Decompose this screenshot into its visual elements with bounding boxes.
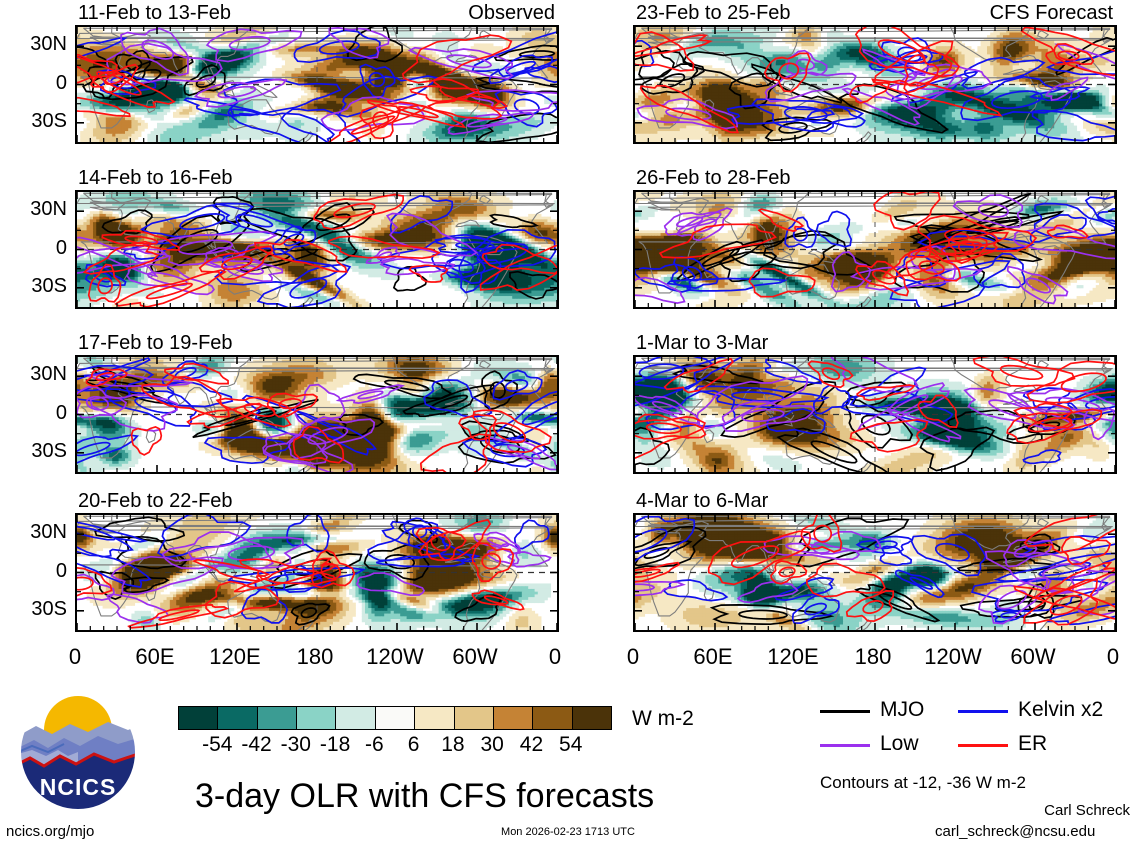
panel-title: 26-Feb to 28-Feb <box>636 168 791 188</box>
panel-title: 17-Feb to 19-Feb <box>78 333 233 353</box>
column-header: Observed <box>295 3 555 23</box>
y-axis-label: 0 <box>3 238 67 258</box>
panel-title: 20-Feb to 22-Feb <box>78 491 233 511</box>
legend-label: Low <box>880 733 919 754</box>
column-header: CFS Forecast <box>853 3 1113 23</box>
y-axis-label: 30S <box>3 111 67 131</box>
legend-line <box>958 710 1008 713</box>
panel-title: 11-Feb to 13-Feb <box>78 3 231 23</box>
y-axis-label: 30N <box>3 522 67 542</box>
contour-note: Contours at -12, -36 W m-2 <box>820 774 1026 791</box>
panel-title: 4-Mar to 6-Mar <box>636 491 768 511</box>
olr-map <box>75 513 559 632</box>
author-credit: Carl Schreck <box>1040 803 1130 818</box>
colorbar <box>178 706 612 730</box>
colorbar-tick-label: 54 <box>531 734 611 755</box>
panel-title: 14-Feb to 16-Feb <box>78 168 233 188</box>
colorbar-segment <box>217 707 256 729</box>
legend-label: Kelvin x2 <box>1018 699 1103 720</box>
y-axis-label: 0 <box>3 73 67 93</box>
colorbar-segment <box>493 707 532 729</box>
legend-label: ER <box>1018 733 1047 754</box>
y-axis-label: 0 <box>3 403 67 423</box>
colorbar-segment <box>414 707 453 729</box>
colorbar-segment <box>257 707 296 729</box>
olr-map <box>633 25 1117 144</box>
contact-email: carl_schreck@ncsu.edu <box>935 824 1095 839</box>
site-url: ncics.org/mjo <box>6 824 94 839</box>
render-timestamp: Mon 2026-02-23 1713 UTC <box>478 827 658 838</box>
colorbar-segment <box>179 707 217 729</box>
y-axis-label: 30N <box>3 199 67 219</box>
colorbar-segment <box>572 707 611 729</box>
main-title: 3-day OLR with CFS forecasts <box>195 779 654 813</box>
y-axis-label: 30N <box>3 364 67 384</box>
colorbar-segment <box>375 707 414 729</box>
legend-line <box>820 744 870 747</box>
y-axis-label: 30S <box>3 276 67 296</box>
olr-map <box>75 190 559 309</box>
panel-title: 1-Mar to 3-Mar <box>636 333 768 353</box>
colorbar-segment <box>296 707 335 729</box>
olr-map <box>75 355 559 474</box>
panel-title: 23-Feb to 25-Feb <box>636 3 791 23</box>
olr-map <box>633 513 1117 632</box>
y-axis-label: 30S <box>3 599 67 619</box>
colorbar-unit-label: W m-2 <box>632 708 694 729</box>
legend-line <box>820 710 870 713</box>
ncics-logo: NCICS <box>18 692 138 817</box>
olr-map <box>75 25 559 144</box>
colorbar-segment <box>335 707 374 729</box>
y-axis-label: 30N <box>3 34 67 54</box>
x-axis-label: 0 <box>1063 646 1135 668</box>
legend-label: MJO <box>880 699 924 720</box>
olr-map <box>633 355 1117 474</box>
legend-line <box>958 744 1008 747</box>
y-axis-label: 0 <box>3 561 67 581</box>
colorbar-segment <box>454 707 493 729</box>
y-axis-label: 30S <box>3 441 67 461</box>
olr-map <box>633 190 1117 309</box>
colorbar-segment <box>532 707 571 729</box>
